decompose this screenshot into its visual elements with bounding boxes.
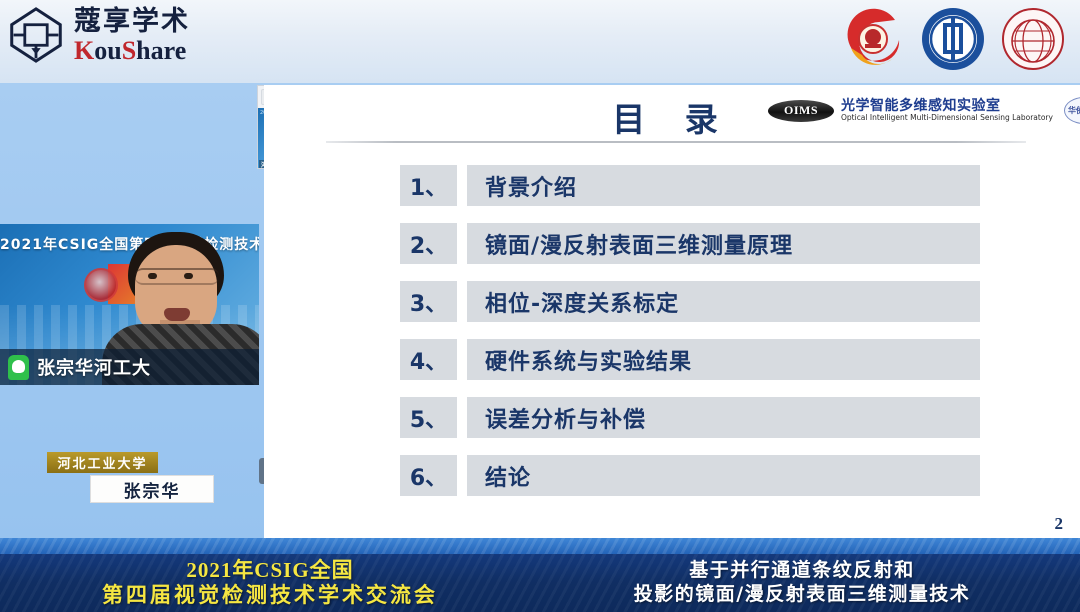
talk-title-line2: 投影的镜面/漫反射表面三维测量技术 [634, 583, 970, 607]
speaker-name-label: 张宗华 [124, 477, 181, 502]
toc-number: 3、 [410, 286, 447, 318]
toc-spacer [457, 165, 467, 206]
toc-number-box: 4、 [400, 339, 457, 380]
toc-item[interactable]: 3、 相位-深度关系标定 [400, 281, 980, 322]
toc-title-box: 硬件系统与实验结果 [467, 339, 980, 380]
lab-name-cn: 光学智能多维感知实验室 [841, 99, 1053, 114]
toc-title: 硬件系统与实验结果 [485, 344, 692, 376]
toc-number-box: 5、 [400, 397, 457, 438]
toc-title: 背景介绍 [485, 170, 577, 202]
toc-number: 6、 [410, 460, 447, 492]
organization-plate: 河北工业大学 [47, 452, 158, 473]
oims-badge-icon: OIMS [768, 100, 834, 122]
toc-title: 镜面/漫反射表面三维测量原理 [485, 228, 793, 260]
talk-title-block: 基于并行通道条纹反射和 投影的镜面/漫反射表面三维测量技术 [532, 554, 1072, 612]
toc-item[interactable]: 1、 背景介绍 [400, 165, 980, 206]
banner-accent-strip [0, 538, 1080, 554]
bottom-banner: 2021年CSIG全国 第四届视觉检测技术学术交流会 基于并行通道条纹反射和 投… [0, 538, 1080, 612]
conference-title-block: 2021年CSIG全国 第四届视觉检测技术学术交流会 [0, 554, 540, 612]
toc-title: 误差分析与补偿 [485, 402, 646, 434]
lab-name-en: Optical Intelligent Multi-Dimensional Se… [841, 114, 1053, 122]
microphone-icon [8, 355, 29, 380]
title-divider [326, 141, 1026, 143]
portrait-eye-right [184, 273, 193, 279]
toc-spacer [457, 397, 467, 438]
toc-number: 4、 [410, 344, 447, 376]
conference-title-line2: 第四届视觉检测技术学术交流会 [102, 582, 438, 607]
toc-spacer [457, 339, 467, 380]
speaker-video-tile[interactable]: 2021年CSIG全国第四届视觉检测技术学术交流会 张宗华河工大 [0, 224, 259, 385]
portrait-eye-left [148, 273, 157, 279]
koushare-diamond-icon [8, 6, 64, 64]
toc-item[interactable]: 6、 结论 [400, 455, 980, 496]
toc-item[interactable]: 5、 误差分析与补偿 [400, 397, 980, 438]
huaqiao-university-logo-icon [1000, 6, 1066, 72]
toc-title: 结论 [485, 460, 531, 492]
organization-label: 河北工业大学 [57, 453, 147, 472]
toc-number: 1、 [410, 170, 447, 202]
brand-name-en: KouShare [74, 38, 190, 64]
oims-badge-text: OIMS [784, 103, 818, 118]
slide-page-number: 2 [1055, 514, 1064, 534]
presentation-slide[interactable]: 目 录 OIMS 光学智能多维感知实验室 Optical Intelligent… [264, 85, 1080, 540]
toc-title-box: 相位-深度关系标定 [467, 281, 980, 322]
toc-spacer [457, 223, 467, 264]
toc-spacer [457, 281, 467, 322]
speaker-label: 张宗华河工大 [37, 354, 151, 380]
conference-title-line1: 2021年CSIG全国 [186, 558, 353, 582]
partner-logos [840, 6, 1066, 72]
university-seal-text: 华侨大学 [1068, 105, 1080, 116]
toc-title-box: 背景介绍 [467, 165, 980, 206]
portrait-mouth [164, 308, 190, 321]
csig-emblem-logo-icon [840, 6, 906, 72]
toc-number-box: 1、 [400, 165, 457, 206]
china-institute-logo-icon [920, 6, 986, 72]
toc-spacer [457, 455, 467, 496]
brand-logo[interactable]: 蔻享学术 KouShare [8, 6, 190, 64]
toc-title: 相位-深度关系标定 [485, 286, 679, 318]
brand-name-cn: 蔻享学术 [74, 8, 190, 35]
toc-number-box: 3、 [400, 281, 457, 322]
speaker-name-plate: 张宗华 [90, 475, 214, 503]
toc-title-box: 结论 [467, 455, 980, 496]
toc-title-box: 镜面/漫反射表面三维测量原理 [467, 223, 980, 264]
toc-number-box: 2、 [400, 223, 457, 264]
toc-number: 2、 [410, 228, 447, 260]
toc-item[interactable]: 2、 镜面/漫反射表面三维测量原理 [400, 223, 980, 264]
table-of-contents: 1、 背景介绍 2、 镜面/漫反射表面三维测量原理 3、 相位-深度关系标定 4… [400, 165, 980, 513]
speaker-name-bar: 张宗华河工大 [0, 349, 259, 385]
toc-title-box: 误差分析与补偿 [467, 397, 980, 438]
university-seal-icon: 华侨大学 [1064, 97, 1080, 124]
site-header: 蔻享学术 KouShare [0, 0, 1080, 83]
screen: 蔻享学术 KouShare [0, 0, 1080, 612]
toc-number: 5、 [410, 402, 447, 434]
lab-logo-lockup: OIMS 光学智能多维感知实验室 Optical Intelligent Mul… [768, 97, 1080, 124]
talk-title-line1: 基于并行通道条纹反射和 [689, 559, 915, 583]
toc-number-box: 6、 [400, 455, 457, 496]
toc-item[interactable]: 4、 硬件系统与实验结果 [400, 339, 980, 380]
